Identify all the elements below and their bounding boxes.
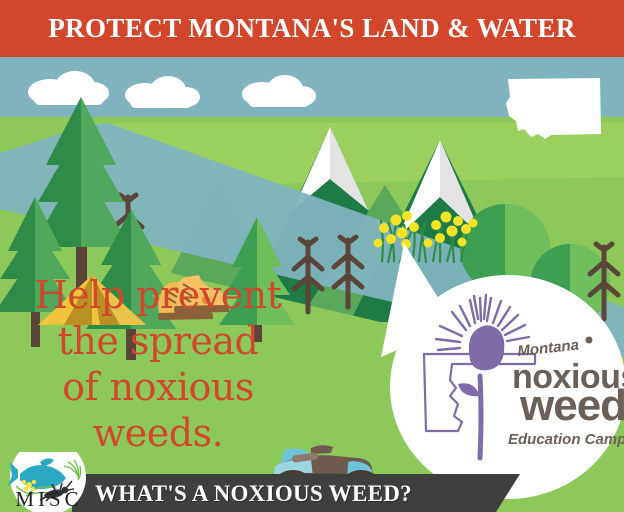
noxious-weed-logo: Montana noxious weed Education Campaign <box>392 292 624 482</box>
logo-montana-word: Montana <box>517 337 580 360</box>
headline-text: Help prevent the spread of noxious weeds… <box>8 272 308 456</box>
header-banner: PROTECT MONTANA'S LAND & WATER <box>0 0 624 57</box>
headline-line-4: weeds. <box>8 410 308 456</box>
headline-line-1: Help prevent <box>8 272 308 318</box>
page-title: PROTECT MONTANA'S LAND & WATER <box>48 13 576 44</box>
logo-campaign-word: Education Campaign <box>508 431 624 448</box>
logo-weed-word: weed <box>519 381 624 430</box>
bottom-banner-label[interactable]: WHAT'S A NOXIOUS WEED? <box>95 481 412 507</box>
misc-logo-label: MISC <box>3 487 95 512</box>
logo-wordmark: Montana noxious weed Education Campaign <box>508 337 624 449</box>
montana-state-outline <box>506 78 601 139</box>
headline-line-3: of noxious <box>8 364 308 410</box>
headline-line-2: the spread <box>8 318 308 364</box>
poster-canvas: PROTECT MONTANA'S LAND & WATER <box>0 0 624 512</box>
